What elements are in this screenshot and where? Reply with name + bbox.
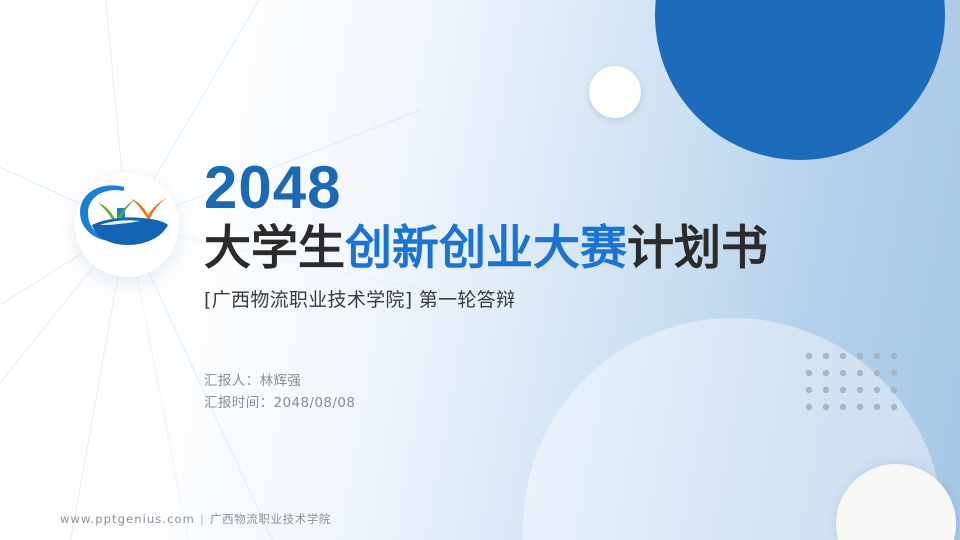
- subtitle: [广西物流职业技术学院] 第一轮答辩: [204, 285, 844, 312]
- headline-part-3: 计划书: [627, 221, 768, 276]
- footer-organization: 广西物流职业技术学院: [210, 512, 331, 526]
- presenter-info-block: 汇报人：林辉强 汇报时间：2048/08/08: [204, 370, 355, 414]
- main-headline: 大学生创新创业大赛计划书: [204, 224, 844, 273]
- headline-part-1: 大学生: [204, 221, 345, 276]
- footer-separator: |: [195, 512, 210, 526]
- decor-dot-grid: [805, 352, 897, 414]
- presenter-name-line: 汇报人：林辉强: [204, 370, 355, 392]
- footer-website: www.pptgenius.com: [60, 512, 195, 526]
- year-heading: 2048: [204, 158, 844, 218]
- decor-white-dot: [589, 66, 641, 118]
- presentation-title-slide: 2048 大学生创新创业大赛计划书 [广西物流职业技术学院] 第一轮答辩 汇报人…: [0, 0, 960, 540]
- headline-part-2-accent: 创新创业大赛: [345, 221, 627, 276]
- college-logo-icon: [76, 181, 170, 249]
- footer: www.pptgenius.com|广西物流职业技术学院: [60, 511, 331, 527]
- presentation-date-line: 汇报时间：2048/08/08: [204, 392, 355, 414]
- title-text-block: 2048 大学生创新创业大赛计划书 [广西物流职业技术学院] 第一轮答辩: [204, 158, 844, 312]
